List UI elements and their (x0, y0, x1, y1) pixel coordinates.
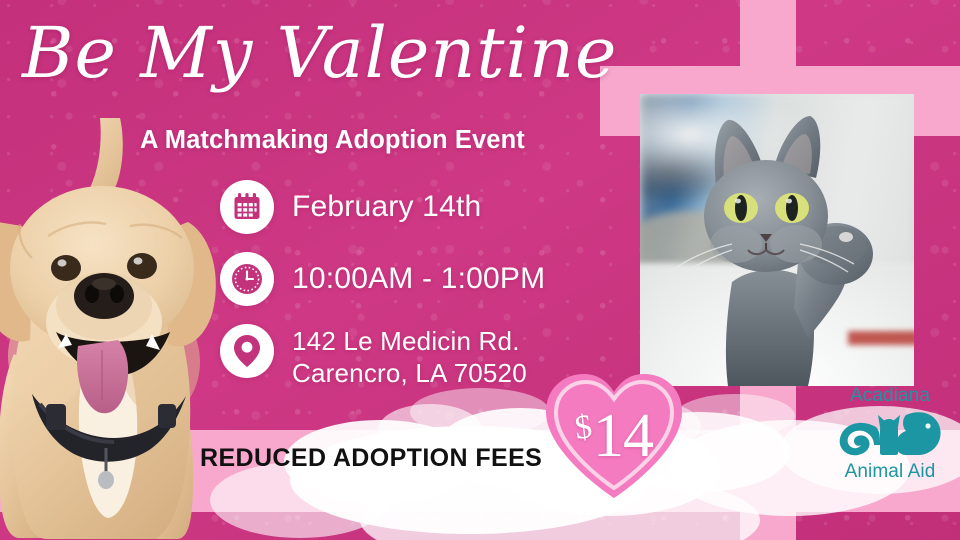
detail-row-date: February 14th (220, 180, 545, 234)
dog-and-cat-silhouette-icon (832, 406, 948, 462)
logo-line-2: Animal Aid (832, 462, 948, 482)
page-title: Be My Valentine (22, 18, 642, 88)
clock-icon (220, 252, 274, 306)
detail-date-label: February 14th (292, 192, 481, 222)
page-subtitle: A Matchmaking Adoption Event (140, 126, 525, 155)
detail-address-label: 142 Le Medicin Rd. Carencro, LA 70520 (292, 326, 527, 389)
detail-row-address: 142 Le Medicin Rd. Carencro, LA 70520 (220, 324, 545, 389)
address-line-1: 142 Le Medicin Rd. (292, 326, 520, 356)
map-pin-icon (220, 324, 274, 378)
address-line-2: Carencro, LA 70520 (292, 358, 527, 388)
cat-illustration (640, 94, 914, 386)
price-amount: 14 (593, 405, 653, 467)
cat-photo (640, 94, 914, 386)
calendar-icon (220, 180, 274, 234)
reduced-fees-banner: REDUCED ADOPTION FEES (200, 444, 542, 473)
detail-row-time: 10:00AM - 1:00PM (220, 252, 545, 306)
event-details: February 14th 10:00AM - 1:00PM (220, 180, 545, 407)
detail-time-label: 10:00AM - 1:00PM (292, 264, 545, 294)
currency-symbol: $ (573, 408, 595, 448)
valentine-adoption-flyer: Be My Valentine A Matchmaking Adoption E… (0, 0, 960, 540)
organization-logo: Acadiana Animal Aid (832, 386, 948, 490)
logo-line-1: Acadiana (832, 386, 948, 406)
price-badge: $ 14 (534, 362, 694, 504)
price-text: $ 14 (534, 362, 694, 504)
